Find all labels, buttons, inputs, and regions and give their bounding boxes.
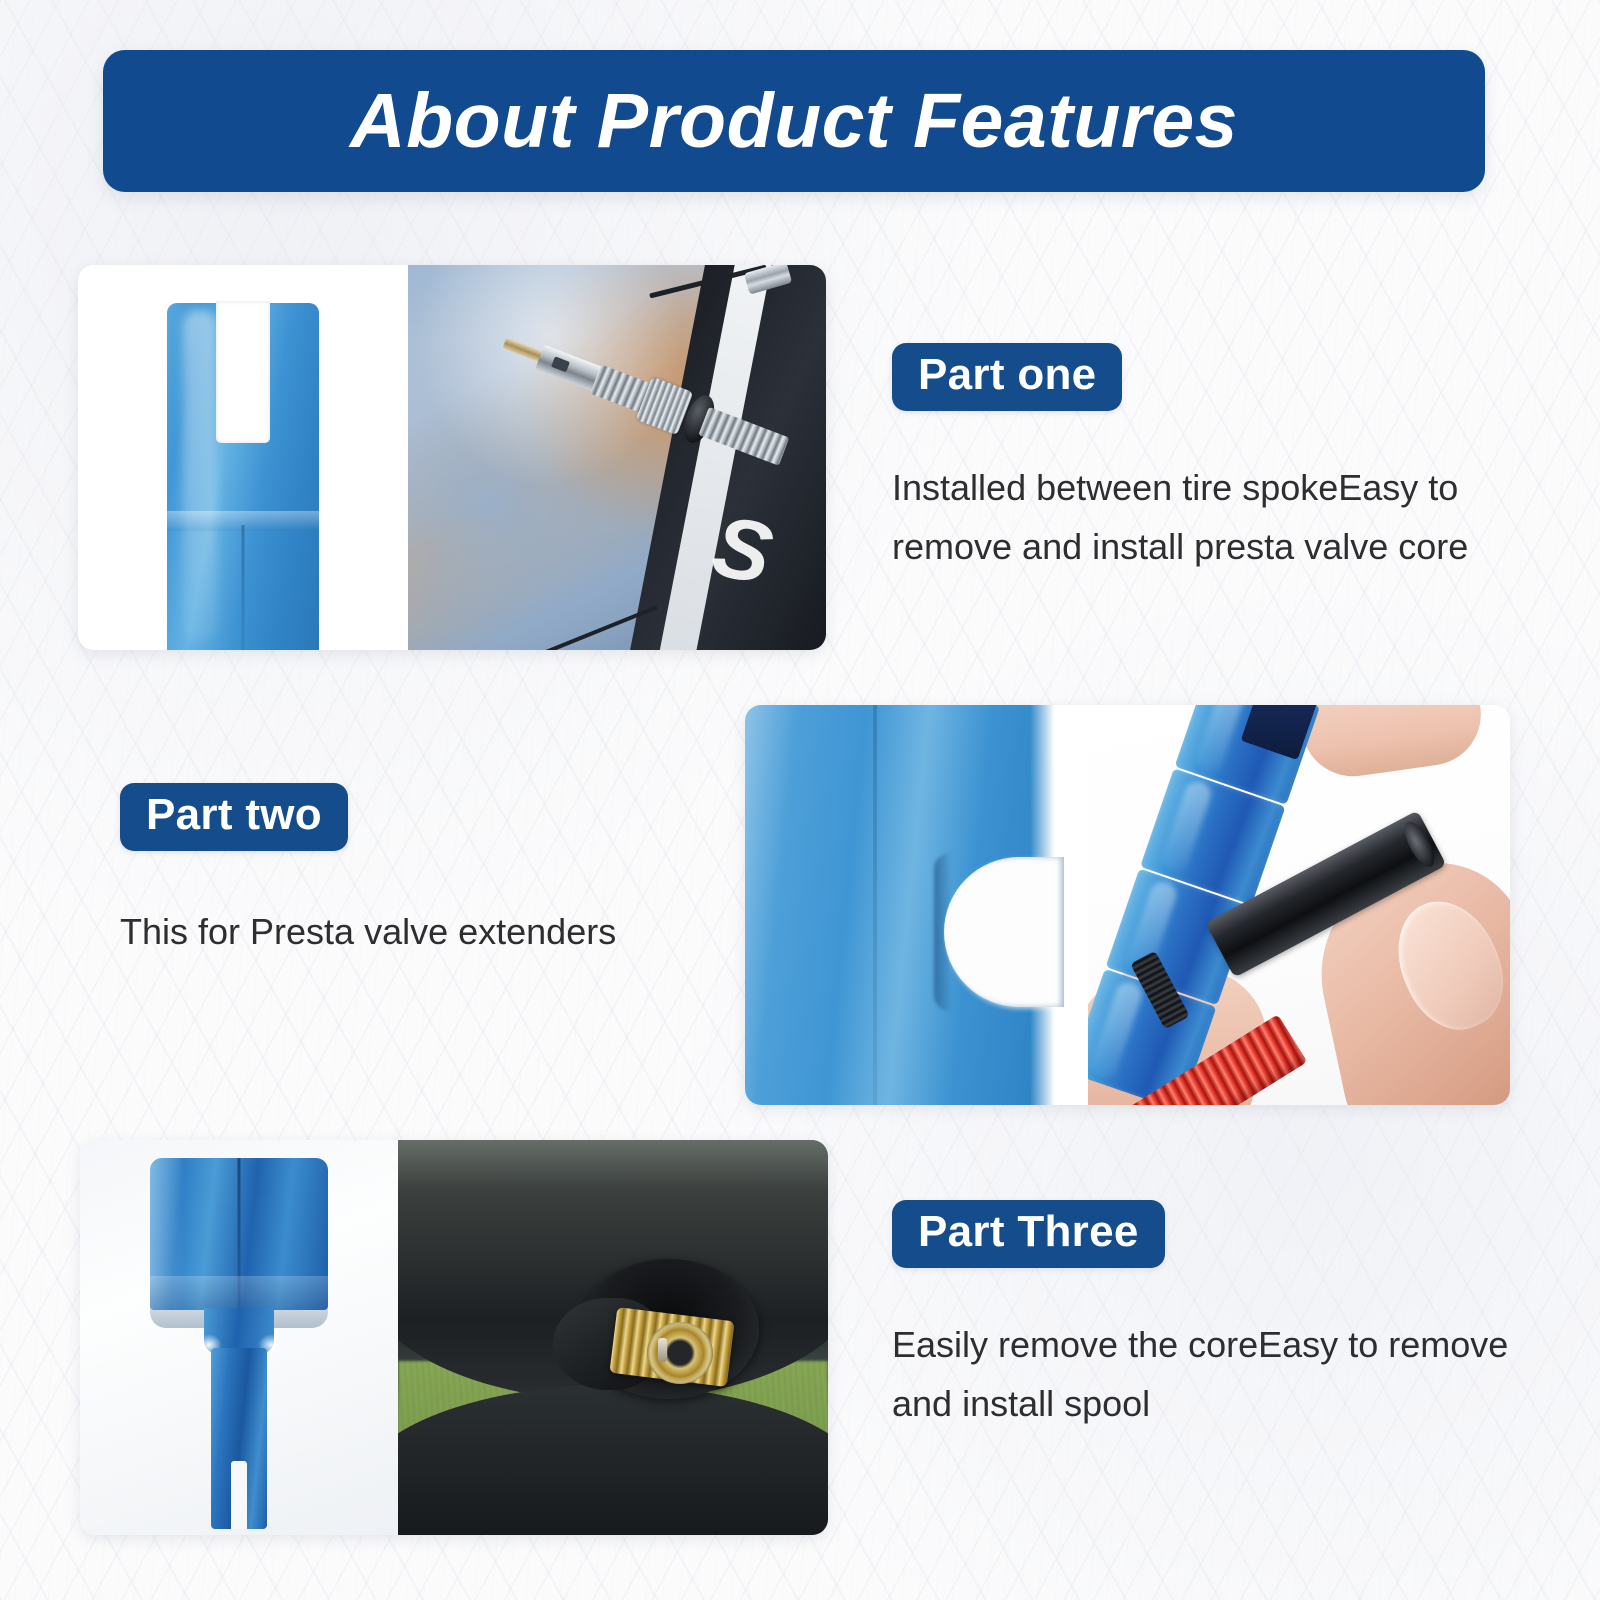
feature-one-badge: Part one bbox=[892, 343, 1122, 411]
feature-two-badge: Part two bbox=[120, 783, 348, 851]
blue-hex-slotted-tool-icon bbox=[150, 1158, 328, 1529]
rim-logo-text: S bbox=[700, 503, 826, 642]
feature-one-description: Installed between tire spokeEasy to remo… bbox=[892, 459, 1522, 576]
page-title-banner: About Product Features bbox=[103, 50, 1485, 192]
feature-three-image-right bbox=[398, 1140, 828, 1535]
feature-three-text: Part Three Easily remove the coreEasy to… bbox=[892, 1200, 1522, 1433]
blue-u-slot-tool-icon bbox=[167, 303, 319, 650]
feature-two-text: Part two This for Presta valve extenders bbox=[120, 783, 616, 962]
u-cutout-shape bbox=[944, 857, 1064, 1007]
feature-two-image-left bbox=[745, 705, 1088, 1105]
feature-one-text: Part one Installed between tire spokeEas… bbox=[892, 343, 1522, 576]
feature-image-card-two bbox=[745, 705, 1510, 1105]
feature-one-image-left bbox=[78, 265, 408, 650]
page-title: About Product Features bbox=[350, 83, 1238, 160]
feature-three-badge: Part Three bbox=[892, 1200, 1165, 1268]
feature-three-image-left bbox=[80, 1140, 398, 1535]
feature-two-image-right bbox=[1088, 705, 1510, 1105]
feature-three-description: Easily remove the coreEasy to remove and… bbox=[892, 1316, 1522, 1433]
feature-image-card-three bbox=[80, 1140, 828, 1535]
feature-one-image-right: S bbox=[408, 265, 826, 650]
feature-image-card-one: S bbox=[78, 265, 826, 650]
feature-two-description: This for Presta valve extenders bbox=[120, 903, 616, 961]
